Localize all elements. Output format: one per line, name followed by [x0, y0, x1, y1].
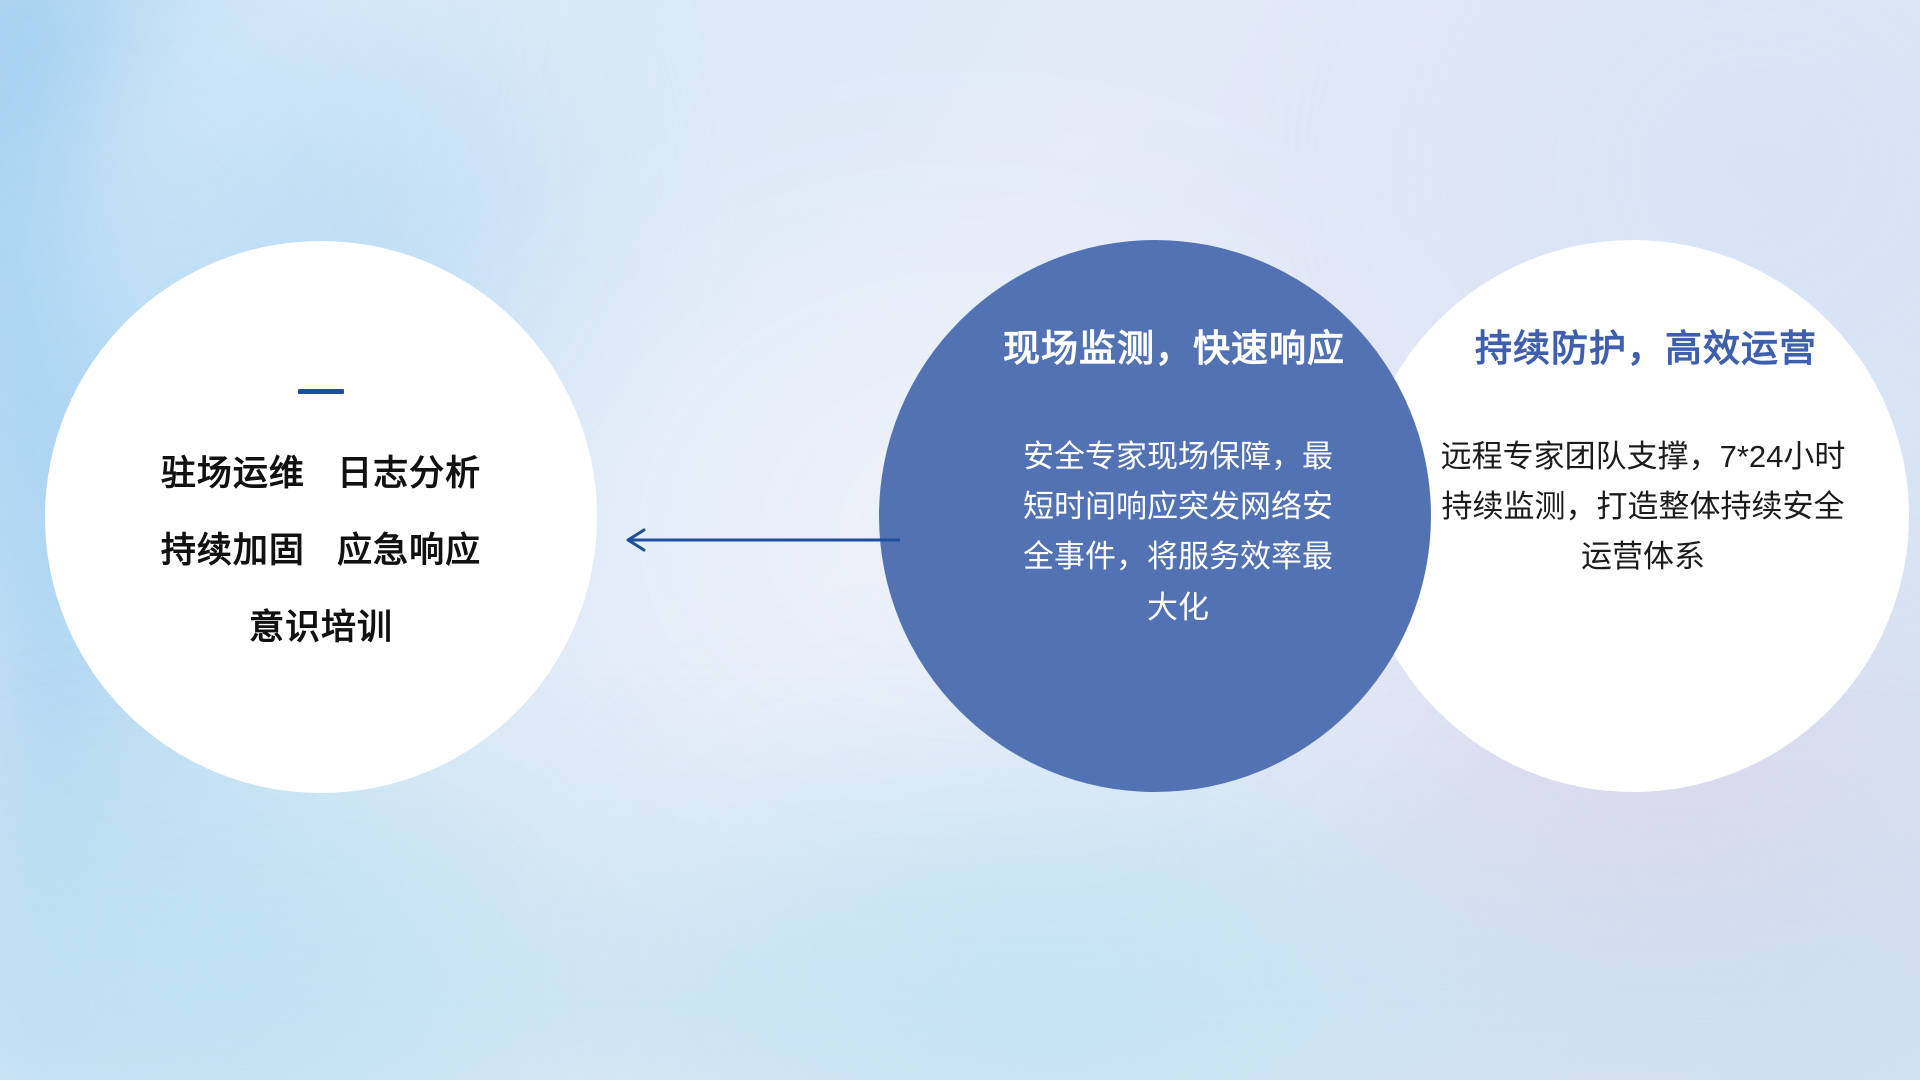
- right-circle-body: 远程专家团队支撑，7*24小时持续监测，打造整体持续安全运营体系: [1433, 432, 1853, 583]
- middle-circle-body: 安全专家现场保障，最短时间响应突发网络安全事件，将服务效率最大化: [1013, 432, 1343, 633]
- onsite-monitoring-circle[interactable]: 现场监测，快速响应 安全专家现场保障，最短时间响应突发网络安全事件，将服务效率最…: [879, 240, 1431, 792]
- keyword-line-3: 意识培训: [249, 610, 393, 645]
- right-circle-title: 持续防护，高效运营: [1475, 318, 1817, 372]
- accent-dash-icon: [298, 389, 344, 394]
- keywords-circle[interactable]: 驻场运维 日志分析 持续加固 应急响应 意识培训: [45, 241, 597, 793]
- connector-arrow: [610, 520, 900, 560]
- keyword-line-1: 驻场运维 日志分析: [161, 456, 481, 491]
- keyword-line-2: 持续加固 应急响应: [161, 533, 481, 568]
- arrow-left-icon: [610, 520, 900, 560]
- continuous-protection-circle[interactable]: 持续防护，高效运营 远程专家团队支撑，7*24小时持续监测，打造整体持续安全运营…: [1357, 240, 1909, 792]
- slide-canvas: 驻场运维 日志分析 持续加固 应急响应 意识培训 持续防护，高效运营 远程专家团…: [0, 0, 1920, 1080]
- middle-circle-title: 现场监测，快速响应: [1003, 318, 1345, 372]
